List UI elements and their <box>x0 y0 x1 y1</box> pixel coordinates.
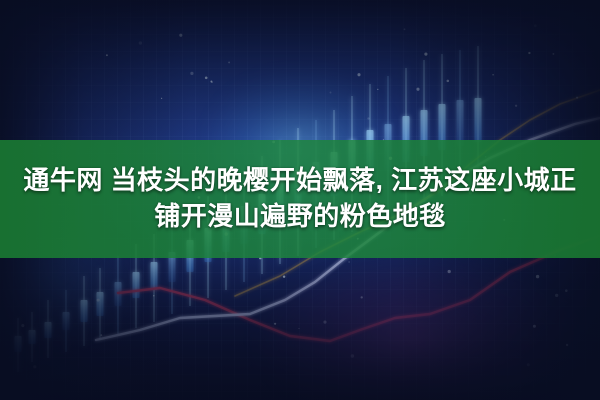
headline-banner: 通牛网 当枝头的晚樱开始飘落, 江苏这座小城正 铺开漫山遍野的粉色地毯 <box>0 140 600 258</box>
promo-banner-image: 通牛网 当枝头的晚樱开始飘落, 江苏这座小城正 铺开漫山遍野的粉色地毯 <box>0 0 600 400</box>
headline-line-2: 铺开漫山遍野的粉色地毯 <box>154 200 446 234</box>
headline-line-1: 通牛网 当枝头的晚樱开始飘落, 江苏这座小城正 <box>23 164 576 198</box>
